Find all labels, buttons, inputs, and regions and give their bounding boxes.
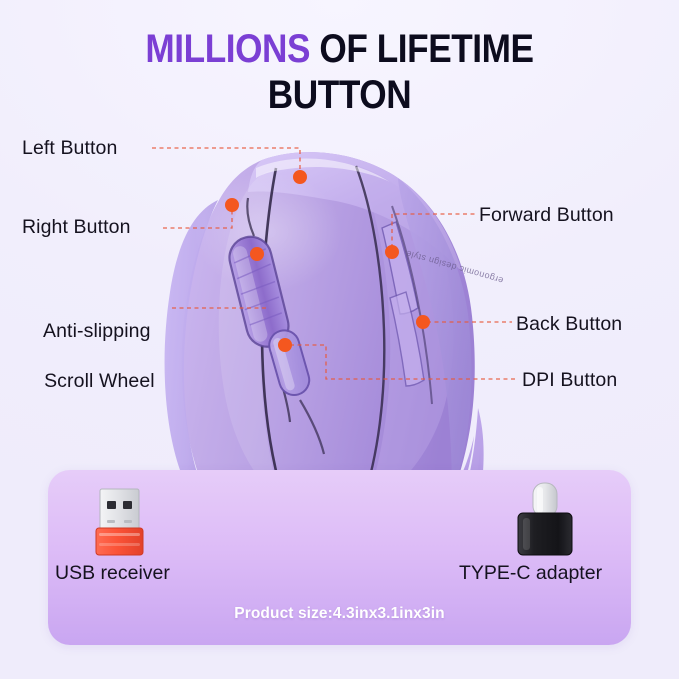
type-c-adapter-label: TYPE-C adapter	[459, 562, 602, 585]
callout-label-back-button: Back Button	[516, 312, 622, 337]
hotspot-dot-left-button	[293, 170, 307, 184]
hotspot-dot-dpi-button	[278, 338, 292, 352]
type-c-adapter-icon	[512, 481, 578, 559]
scroll-wheel-line-2: Scroll Wheel	[44, 370, 155, 392]
hotspot-dot-right-button	[225, 198, 239, 212]
usb-receiver-label: USB receiver	[55, 562, 170, 585]
callout-label-right-button: Right Button	[22, 215, 131, 240]
hotspot-dot-forward-button	[385, 245, 399, 259]
hotspot-dot-scroll-wheel	[250, 247, 264, 261]
usb-receiver-icon	[92, 487, 147, 559]
product-size-caption: Product size:4.3inx3.1inx3in	[48, 605, 631, 623]
scroll-wheel-line-1: Anti-slipping	[43, 320, 151, 342]
product-infographic: MILLIONS OF LIFETIME BUTTON	[0, 0, 679, 679]
callout-label-forward-button: Forward Button	[479, 203, 614, 228]
hotspot-dot-back-button	[416, 315, 430, 329]
callout-label-dpi-button: DPI Button	[522, 368, 617, 393]
callout-label-scroll-wheel: Anti-slipping Scroll Wheel	[22, 294, 155, 419]
callout-label-left-button: Left Button	[22, 136, 117, 161]
